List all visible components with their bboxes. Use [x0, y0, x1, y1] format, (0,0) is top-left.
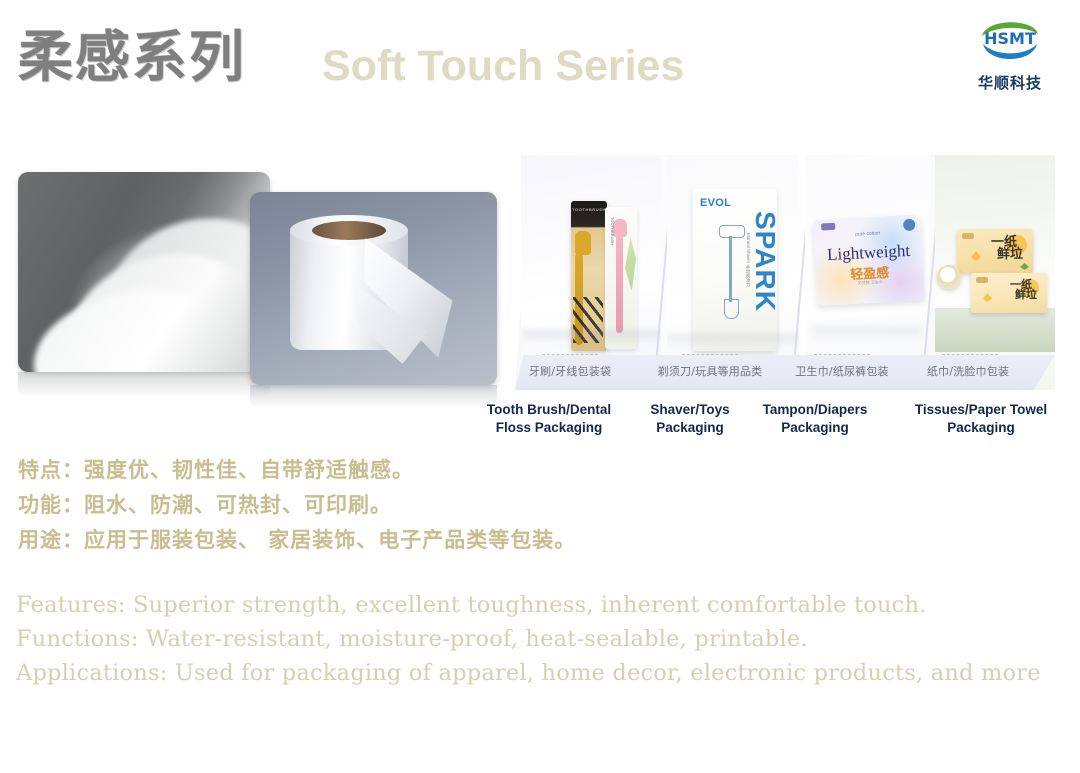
- company-logo: HSMT 华顺科技: [954, 14, 1066, 100]
- slide-header: 柔感系列 Soft Touch Series: [0, 0, 1080, 130]
- tissue-photo-reflection: [250, 385, 497, 409]
- svg-text:HSMT: HSMT: [984, 29, 1036, 48]
- cn-line-applications: 用途：应用于服装包装、 家居装饰、电子产品类等包装。: [18, 522, 1018, 557]
- roll-core: [312, 221, 386, 240]
- cn-line-functions: 功能：阻水、防潮、可热封、可印刷。: [18, 487, 1018, 522]
- english-description-block: Features: Superior strength, excellent t…: [16, 588, 1061, 690]
- product-showcase-panel: TOOTHBRUSH TOOTHBRUSH EVOL: [500, 150, 1060, 395]
- en-line-applications: Applications: Used for packaging of appa…: [16, 656, 1061, 690]
- product-cn-label-tampon: 卫生巾/纸尿裤包装: [788, 363, 896, 379]
- tissue-box-upper: 一纸鲜垃: [957, 229, 1033, 273]
- tissue-roll-photo: [250, 192, 497, 385]
- cn-line-features: 特点：强度优、韧性佳、自带舒适触感。: [18, 452, 1018, 487]
- label-dash: [542, 354, 598, 358]
- label-dash: [942, 354, 998, 358]
- company-name-chinese: 华顺科技: [954, 72, 1066, 93]
- fabric-closeup-photo: [18, 172, 270, 372]
- toothbrush-pouch-dark: TOOTHBRUSH: [571, 201, 607, 351]
- toothbrush-pouch-clear: TOOTHBRUSH: [605, 207, 637, 349]
- fabric-photo-reflection: [18, 372, 270, 398]
- tissue-box-lower: 一纸鲜垃: [971, 273, 1047, 313]
- label-dash: [682, 354, 738, 358]
- page-title-english: Soft Touch Series: [322, 45, 684, 88]
- product-cn-label-shaver: 剃须刀/玩具等用品类: [652, 363, 768, 379]
- lightweight-sanitary-pouch: pure cotton Lightweight 轻盈感 天然棉 卫生巾: [813, 214, 925, 306]
- product-en-label-tampon: Tampon/Diapers Packaging: [740, 401, 890, 437]
- shaver-pouch: EVOL SPARK Manual Shaver 手动剃须刀: [693, 189, 777, 351]
- en-line-features: Features: Superior strength, excellent t…: [16, 588, 1061, 622]
- tissue-roll-small: [937, 265, 961, 289]
- label-dash: [814, 354, 870, 358]
- page-title-chinese: 柔感系列: [18, 30, 246, 85]
- en-line-functions: Functions: Water-resistant, moisture-pro…: [16, 622, 1061, 656]
- product-en-label-toothbrush: Tooth Brush/Dental Floss Packaging: [474, 401, 624, 437]
- hsmt-logo-icon: HSMT: [974, 14, 1046, 72]
- chinese-description-block: 特点：强度优、韧性佳、自带舒适触感。 功能：阻水、防潮、可热封、可印刷。 用途：…: [18, 452, 1018, 557]
- product-en-label-tissues: Tissues/Paper Towel Packaging: [901, 401, 1061, 437]
- product-cn-label-tissues: 纸巾/洗脸巾包装: [914, 363, 1022, 379]
- slide-root: 柔感系列 Soft Touch Series HSMT 华顺科技: [0, 0, 1080, 773]
- product-cn-label-toothbrush: 牙刷/牙线包装袋: [518, 363, 622, 379]
